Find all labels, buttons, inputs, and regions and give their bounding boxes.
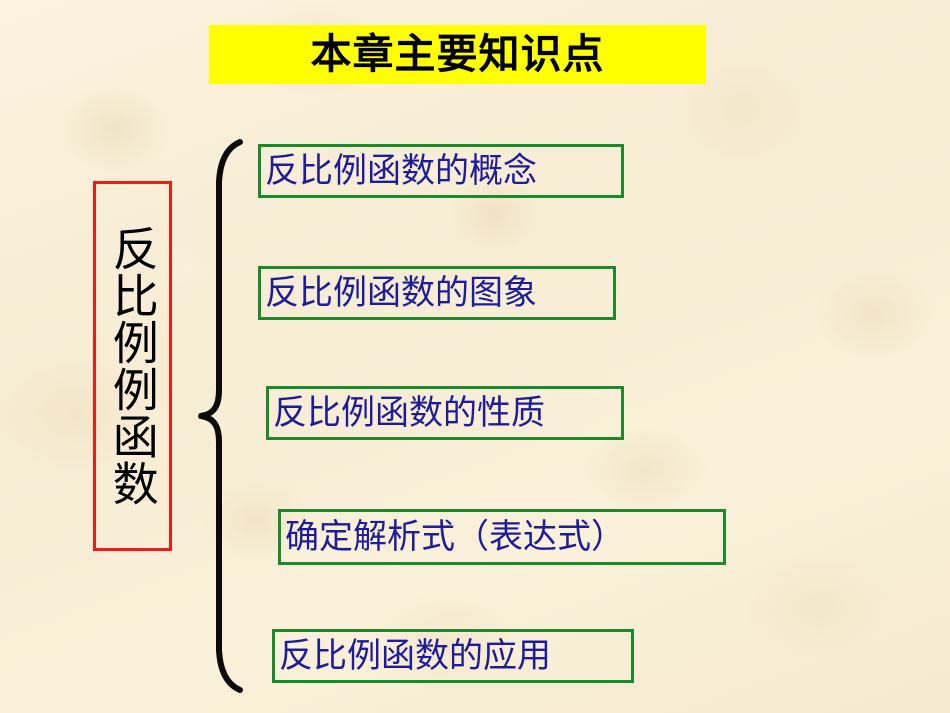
topic-box-concept[interactable]: 反比例函数的概念 (258, 144, 624, 198)
slide-canvas: 本章主要知识点 反比例例函数 反比例函数的概念 反比例函数的图象 反比例函数的性… (0, 0, 950, 713)
topic-box-properties[interactable]: 反比例函数的性质 (266, 386, 624, 440)
root-concept-label: 反比例例函数 (110, 225, 155, 507)
topic-label-concept: 反比例函数的概念 (261, 154, 541, 188)
topic-box-graph[interactable]: 反比例函数的图象 (258, 266, 616, 320)
title-banner: 本章主要知识点 (209, 25, 706, 84)
curly-brace-icon (196, 138, 244, 694)
topic-label-expression: 确定解析式（表达式） (281, 520, 629, 554)
page-title: 本章主要知识点 (311, 34, 605, 75)
topic-label-properties: 反比例函数的性质 (269, 396, 549, 430)
topic-box-application[interactable]: 反比例函数的应用 (272, 629, 634, 683)
topic-label-application: 反比例函数的应用 (275, 639, 555, 673)
topic-label-graph: 反比例函数的图象 (261, 276, 541, 310)
root-concept-box: 反比例例函数 (93, 181, 172, 551)
topic-box-expression[interactable]: 确定解析式（表达式） (278, 509, 726, 565)
